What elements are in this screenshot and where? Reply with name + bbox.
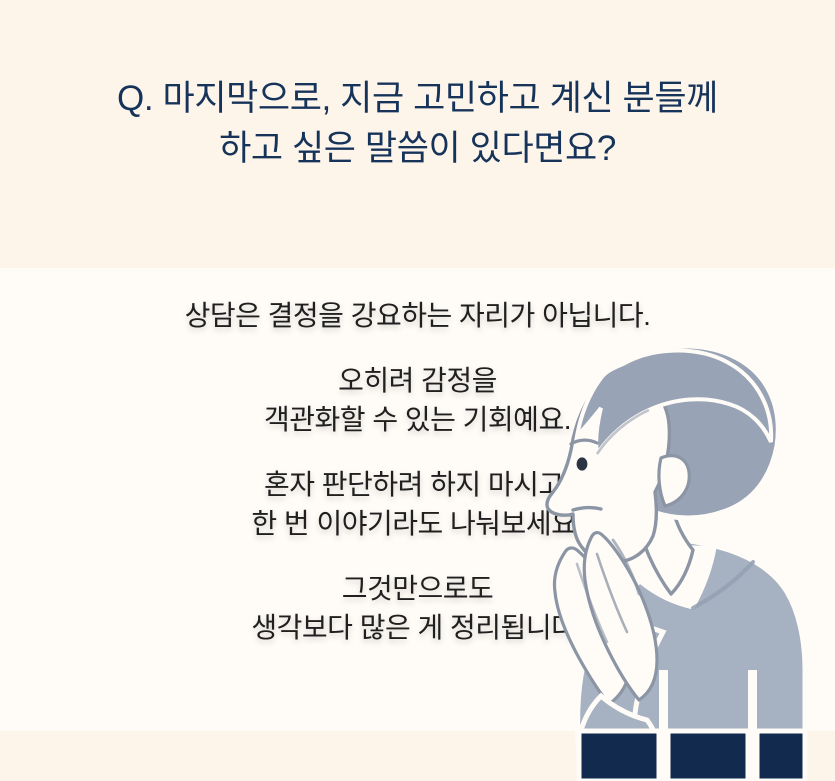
woman-profile-illustration xyxy=(505,340,835,781)
hands-shape xyxy=(554,533,657,720)
question-heading: Q. 마지막으로, 지금 고민하고 계신 분들께 하고 싶은 말씀이 있다면요? xyxy=(0,74,835,174)
answer-paragraph: 상담은 결정을 강요하는 자리가 아닙니다. xyxy=(0,296,835,335)
eye-icon xyxy=(577,457,588,470)
navy-hem-band xyxy=(579,731,805,781)
promotional-card: Q. 마지막으로, 지금 고민하고 계신 분들께 하고 싶은 말씀이 있다면요?… xyxy=(0,0,835,781)
